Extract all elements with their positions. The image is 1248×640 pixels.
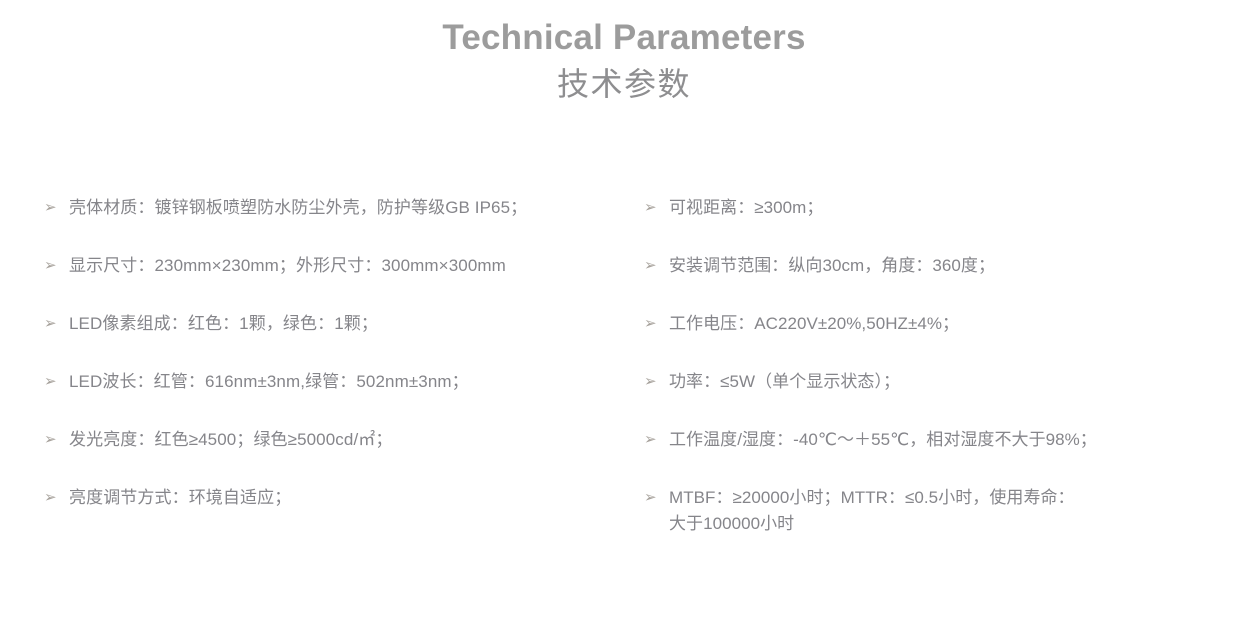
bullet-arrow-icon: ➢ xyxy=(644,427,669,453)
spec-item-display-size: ➢ 显示尺寸：230mm×230mm；外形尺寸：300mm×300mm xyxy=(44,253,642,311)
bullet-arrow-icon: ➢ xyxy=(644,253,669,279)
bullet-arrow-icon: ➢ xyxy=(44,427,69,453)
spec-item-led-wavelength: ➢ LED波长：红管：616nm±3nm,绿管：502nm±3nm； xyxy=(44,369,642,427)
spec-text: 安装调节范围：纵向30cm，角度：360度； xyxy=(669,253,1248,279)
page-title-chinese: 技术参数 xyxy=(0,60,1248,106)
bullet-arrow-icon: ➢ xyxy=(44,195,69,221)
spec-text: MTBF：≥20000小时；MTTR：≤0.5小时，使用寿命： 大于100000… xyxy=(669,485,1248,537)
bullet-arrow-icon: ➢ xyxy=(44,253,69,279)
spec-text: LED像素组成：红色：1颗，绿色：1颗； xyxy=(69,311,642,337)
spec-text: 工作电压：AC220V±20%,50HZ±4%； xyxy=(669,311,1248,337)
spec-item-brightness-adjustment: ➢ 亮度调节方式：环境自适应； xyxy=(44,485,642,543)
spec-item-luminance: ➢ 发光亮度：红色≥4500；绿色≥5000cd/㎡； xyxy=(44,427,642,485)
spec-item-working-temperature-humidity: ➢ 工作温度/湿度：-40℃～＋55℃，相对湿度不大于98%； xyxy=(644,427,1248,485)
spec-item-viewing-distance: ➢ 可视距离：≥300m； xyxy=(644,195,1248,253)
bullet-arrow-icon: ➢ xyxy=(644,369,669,395)
spec-text: 可视距离：≥300m； xyxy=(669,195,1248,221)
bullet-arrow-icon: ➢ xyxy=(644,195,669,221)
spec-text: 壳体材质：镀锌钢板喷塑防水防尘外壳，防护等级GB IP65； xyxy=(69,195,642,221)
spec-item-led-pixel-composition: ➢ LED像素组成：红色：1颗，绿色：1颗； xyxy=(44,311,642,369)
spec-text: 亮度调节方式：环境自适应； xyxy=(69,485,642,511)
bullet-arrow-icon: ➢ xyxy=(44,369,69,395)
spec-text: 显示尺寸：230mm×230mm；外形尺寸：300mm×300mm xyxy=(69,253,642,279)
bullet-arrow-icon: ➢ xyxy=(44,311,69,337)
page-header: Technical Parameters 技术参数 xyxy=(0,0,1248,106)
bullet-arrow-icon: ➢ xyxy=(44,485,69,511)
spec-column-left: ➢ 壳体材质：镀锌钢板喷塑防水防尘外壳，防护等级GB IP65； ➢ 显示尺寸：… xyxy=(0,195,642,543)
bullet-arrow-icon: ➢ xyxy=(644,311,669,337)
spec-text: 功率：≤5W（单个显示状态）； xyxy=(669,369,1248,395)
spec-item-mtbf-mttr-lifetime: ➢ MTBF：≥20000小时；MTTR：≤0.5小时，使用寿命： 大于1000… xyxy=(644,485,1248,537)
spec-item-installation-adjustment-range: ➢ 安装调节范围：纵向30cm，角度：360度； xyxy=(644,253,1248,311)
spec-item-housing-material: ➢ 壳体材质：镀锌钢板喷塑防水防尘外壳，防护等级GB IP65； xyxy=(44,195,642,253)
spec-item-working-voltage: ➢ 工作电压：AC220V±20%,50HZ±4%； xyxy=(644,311,1248,369)
spec-item-power: ➢ 功率：≤5W（单个显示状态）； xyxy=(644,369,1248,427)
spec-text: 工作温度/湿度：-40℃～＋55℃，相对湿度不大于98%； xyxy=(669,427,1248,453)
specifications-section: ➢ 壳体材质：镀锌钢板喷塑防水防尘外壳，防护等级GB IP65； ➢ 显示尺寸：… xyxy=(0,195,1248,543)
spec-text: LED波长：红管：616nm±3nm,绿管：502nm±3nm； xyxy=(69,369,642,395)
page-title-english: Technical Parameters xyxy=(0,16,1248,60)
spec-column-right: ➢ 可视距离：≥300m； ➢ 安装调节范围：纵向30cm，角度：360度； ➢… xyxy=(642,195,1248,537)
spec-text: 发光亮度：红色≥4500；绿色≥5000cd/㎡； xyxy=(69,427,642,453)
bullet-arrow-icon: ➢ xyxy=(644,485,669,511)
